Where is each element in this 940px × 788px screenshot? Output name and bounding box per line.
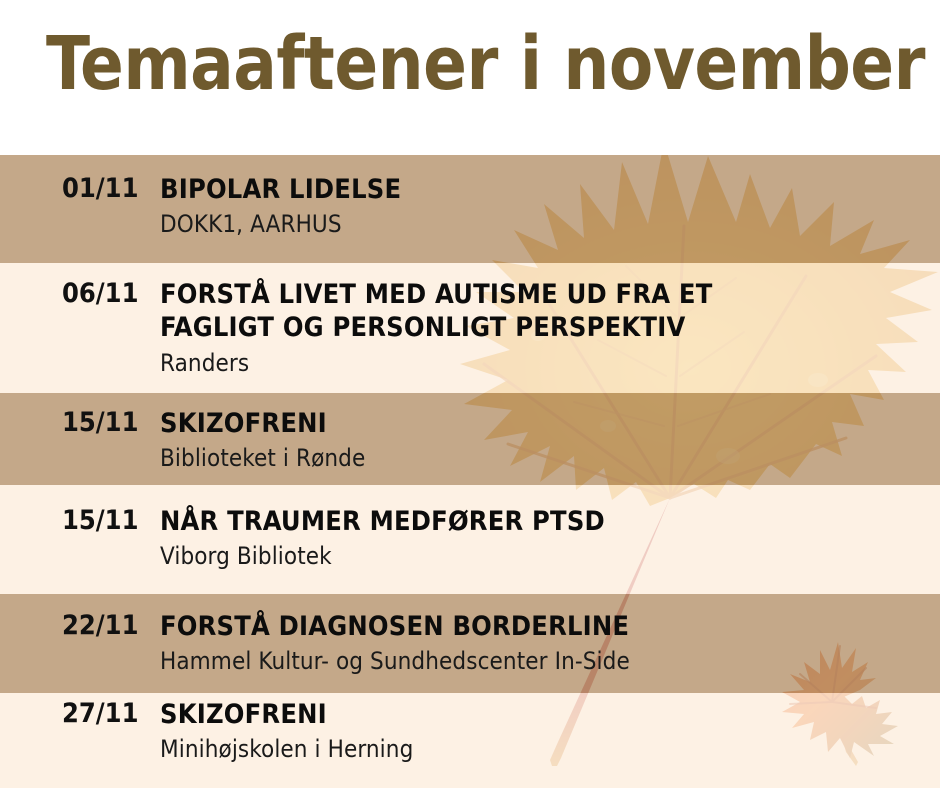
event-title: NÅR TRAUMER MEDFØRER PTSD bbox=[160, 505, 940, 538]
event-title: FORSTÅ DIAGNOSEN BORDERLINE bbox=[160, 610, 940, 643]
event-title: BIPOLAR LIDELSE bbox=[160, 173, 940, 206]
event-row: 06/11 FORSTÅ LIVET MED AUTISME UD FRA ET… bbox=[0, 278, 940, 378]
event-row: 01/11 BIPOLAR LIDELSE DOKK1, AARHUS bbox=[0, 173, 940, 239]
poster-canvas: 01/11 BIPOLAR LIDELSE DOKK1, AARHUS 06/1… bbox=[0, 0, 940, 788]
event-title: FORSTÅ LIVET MED AUTISME UD FRA ET FAGLI… bbox=[160, 278, 940, 345]
page-title: Temaaftener i november bbox=[46, 27, 880, 101]
event-venue: DOKK1, AARHUS bbox=[160, 209, 940, 239]
event-venue: Hammel Kultur- og Sundhedscenter In-Side bbox=[160, 646, 940, 676]
event-venue: Biblioteket i Rønde bbox=[160, 443, 940, 473]
event-row: 15/11 SKIZOFRENI Biblioteket i Rønde bbox=[0, 407, 940, 473]
event-title: SKIZOFRENI bbox=[160, 407, 940, 440]
event-date: 15/11 bbox=[0, 407, 158, 438]
event-date: 06/11 bbox=[0, 278, 158, 309]
event-body: NÅR TRAUMER MEDFØRER PTSD Viborg Bibliot… bbox=[158, 505, 940, 571]
poster-header: Temaaftener i november bbox=[0, 0, 940, 155]
event-row: 15/11 NÅR TRAUMER MEDFØRER PTSD Viborg B… bbox=[0, 505, 940, 571]
event-venue: Minihøjskolen i Herning bbox=[160, 734, 940, 764]
event-date: 01/11 bbox=[0, 173, 158, 204]
event-venue: Randers bbox=[160, 348, 940, 378]
event-row: 22/11 FORSTÅ DIAGNOSEN BORDERLINE Hammel… bbox=[0, 610, 940, 676]
event-body: FORSTÅ DIAGNOSEN BORDERLINE Hammel Kultu… bbox=[158, 610, 940, 676]
event-date: 15/11 bbox=[0, 505, 158, 536]
event-row: 27/11 SKIZOFRENI Minihøjskolen i Herning bbox=[0, 698, 940, 764]
event-date: 22/11 bbox=[0, 610, 158, 641]
event-title: SKIZOFRENI bbox=[160, 698, 940, 731]
event-body: SKIZOFRENI Biblioteket i Rønde bbox=[158, 407, 940, 473]
event-venue: Viborg Bibliotek bbox=[160, 541, 940, 571]
event-body: BIPOLAR LIDELSE DOKK1, AARHUS bbox=[158, 173, 940, 239]
event-date: 27/11 bbox=[0, 698, 158, 729]
event-body: SKIZOFRENI Minihøjskolen i Herning bbox=[158, 698, 940, 764]
event-body: FORSTÅ LIVET MED AUTISME UD FRA ET FAGLI… bbox=[158, 278, 940, 378]
